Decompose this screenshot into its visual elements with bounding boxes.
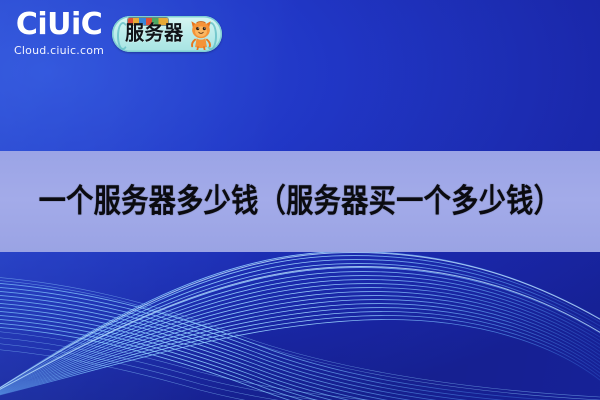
server-badge-label: 服务器 [125, 24, 184, 44]
page-title: 一个服务器多少钱（服务器买一个多少钱） [39, 186, 562, 218]
ciuic-logo[interactable]: CiUiC Cloud.ciuic.com [14, 8, 104, 56]
logo-wordmark: CiUiC [16, 10, 102, 40]
title-band: 一个服务器多少钱（服务器买一个多少钱） [0, 151, 600, 252]
banner-image: CiUiC Cloud.ciuic.com 服务器 [0, 0, 600, 400]
server-badge[interactable]: 服务器 [112, 16, 222, 52]
header: CiUiC Cloud.ciuic.com 服务器 [14, 8, 222, 56]
cat-mascot-icon [186, 19, 216, 50]
logo-domain: Cloud.ciuic.com [14, 45, 104, 56]
